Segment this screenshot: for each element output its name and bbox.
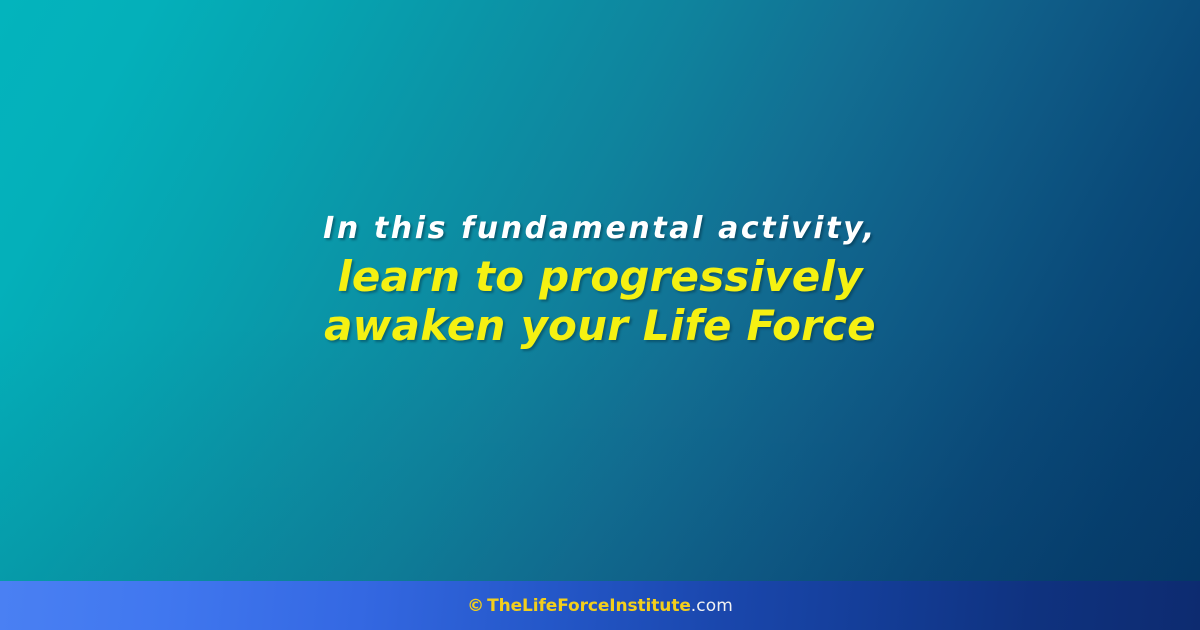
quote-card: In this fundamental activity, learn to p… [0, 0, 1200, 630]
quote-line-highlight-2: awaken your Life Force [60, 301, 1140, 350]
copyright-icon: © [467, 596, 484, 616]
quote-line-highlight-1: learn to progressively [60, 252, 1140, 301]
footer-credit: ©TheLifeForceInstitute.com [467, 596, 733, 616]
quote-block: In this fundamental activity, learn to p… [0, 206, 1200, 350]
site-domain-tld: .com [691, 596, 733, 616]
site-brand-name: TheLifeForceInstitute [487, 596, 691, 616]
footer-bar: ©TheLifeForceInstitute.com [0, 581, 1200, 630]
quote-line-intro: In this fundamental activity, [60, 206, 1140, 252]
